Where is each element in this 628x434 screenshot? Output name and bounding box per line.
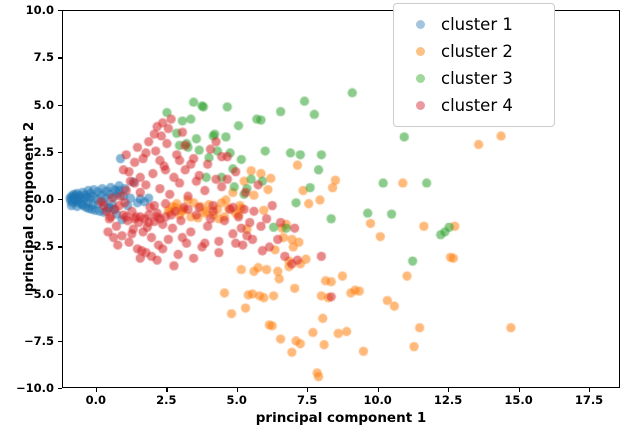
x-tick — [166, 388, 167, 392]
y-tick — [58, 57, 62, 58]
y-tick — [58, 152, 62, 153]
x-tick — [519, 388, 520, 392]
x-tick-label: 17.5 — [575, 393, 603, 407]
y-tick — [58, 199, 62, 200]
x-tick-label: 5.0 — [227, 393, 247, 407]
y-axis-label: principal component 2 — [21, 18, 37, 396]
x-tick — [589, 388, 590, 392]
scatter-plot-figure: 0.02.55.07.510.012.515.017.5 10.07.55.02… — [0, 0, 628, 434]
legend-label-cluster-3: cluster 3 — [437, 69, 513, 88]
y-tick — [58, 341, 62, 342]
x-tick — [378, 388, 379, 392]
x-tick-label: 10.0 — [363, 393, 391, 407]
legend-marker-cluster-3 — [403, 74, 437, 83]
legend-marker-cluster-1 — [403, 20, 437, 29]
y-tick — [58, 10, 62, 11]
legend-label-cluster-4: cluster 4 — [437, 96, 513, 115]
legend-marker-cluster-2 — [403, 47, 437, 56]
x-tick — [237, 388, 238, 392]
x-axis-label: principal component 1 — [62, 410, 620, 426]
x-tick-label: 15.0 — [504, 393, 532, 407]
legend-label-cluster-2: cluster 2 — [437, 42, 513, 61]
x-tick-label: 0.0 — [86, 393, 106, 407]
legend-item[interactable]: cluster 3 — [403, 65, 545, 92]
x-tick-label: 2.5 — [156, 393, 176, 407]
x-tick — [307, 388, 308, 392]
legend-item[interactable]: cluster 4 — [403, 92, 545, 119]
y-tick — [58, 294, 62, 295]
circle-marker-icon — [416, 20, 425, 29]
x-tick — [448, 388, 449, 392]
x-tick-label: 7.5 — [297, 393, 317, 407]
y-tick — [58, 388, 62, 389]
x-tick — [96, 388, 97, 392]
legend-item[interactable]: cluster 2 — [403, 38, 545, 65]
x-tick-label: 12.5 — [434, 393, 462, 407]
legend-marker-cluster-4 — [403, 101, 437, 110]
y-tick — [58, 246, 62, 247]
legend[interactable]: cluster 1 cluster 2 cluster 3 cluster 4 — [393, 3, 555, 127]
y-tick — [58, 105, 62, 106]
circle-marker-icon — [416, 101, 425, 110]
legend-label-cluster-1: cluster 1 — [437, 15, 513, 34]
circle-marker-icon — [416, 47, 425, 56]
circle-marker-icon — [416, 74, 425, 83]
y-tick-label: 10.0 — [26, 3, 54, 17]
legend-item[interactable]: cluster 1 — [403, 11, 545, 38]
